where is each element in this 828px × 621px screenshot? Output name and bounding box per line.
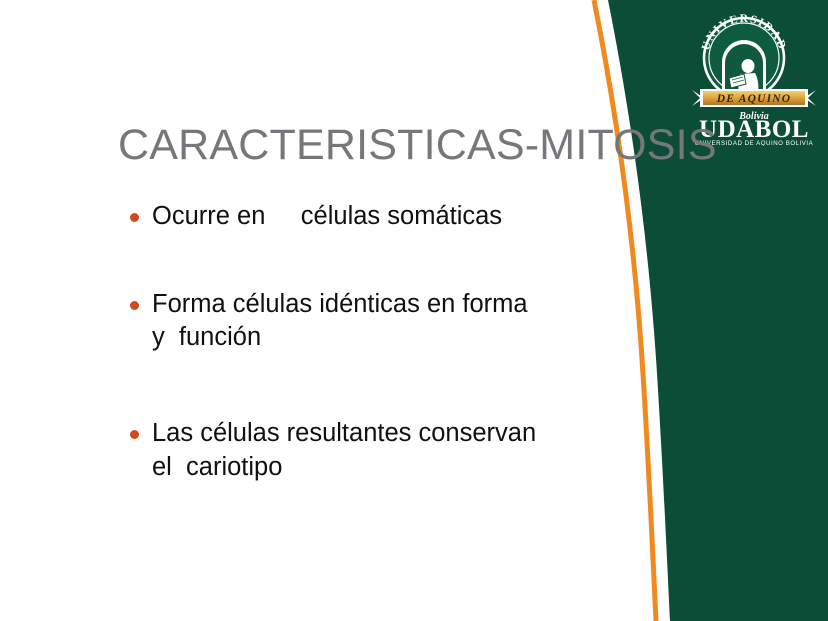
presentation-slide: UNIVERSIDAD DE AQUINO Bol <box>0 0 828 621</box>
list-item: Forma células idénticas en forma y funci… <box>122 288 642 355</box>
ribbon-banner: DE AQUINO <box>692 89 816 107</box>
bullet-text: Forma células idénticas en forma y funci… <box>152 290 528 352</box>
bullet-text: Ocurre en células somáticas <box>152 202 502 230</box>
bullet-text: Las células resultantes conservan el car… <box>152 419 536 481</box>
list-item: Las células resultantes conservan el car… <box>122 417 642 484</box>
bullet-dot-icon <box>130 213 139 222</box>
slide-title: CARACTERISTICAS-MITOSIS <box>118 121 648 169</box>
bullet-dot-icon <box>130 430 139 439</box>
list-item: Ocurre en células somáticas <box>122 200 642 234</box>
bullet-list: Ocurre en células somáticas Forma célula… <box>122 200 642 484</box>
ribbon-text: DE AQUINO <box>716 93 792 105</box>
bullet-dot-icon <box>130 301 139 310</box>
